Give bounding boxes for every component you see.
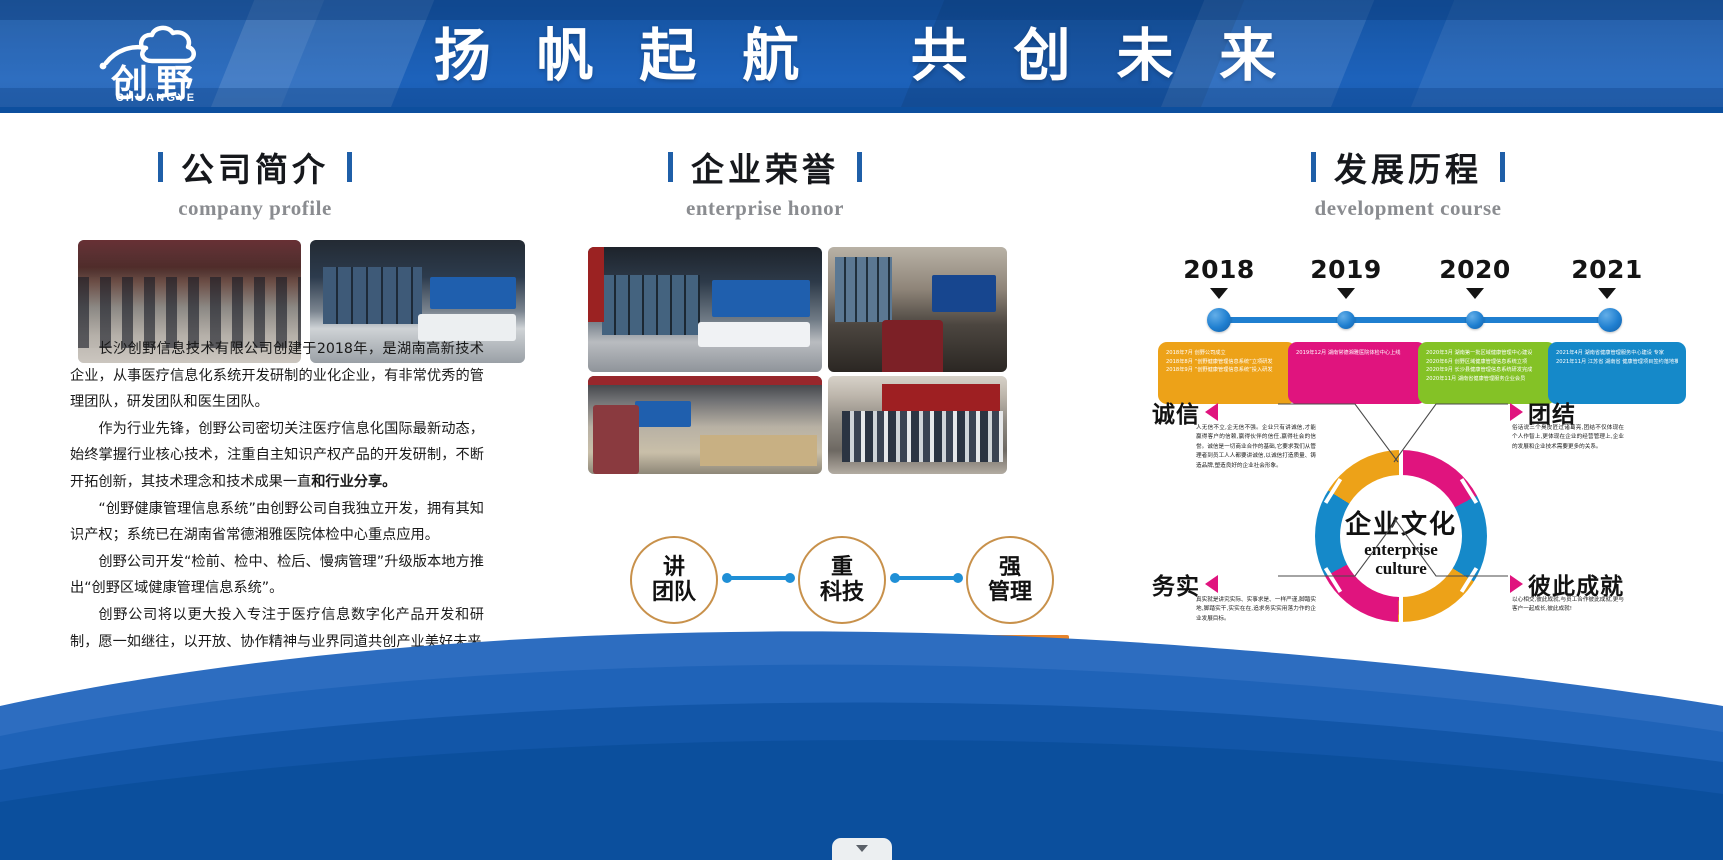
timeline-node-2021 bbox=[1598, 308, 1622, 332]
photo-meeting-room bbox=[588, 247, 822, 372]
timeline-card-2018-line-3: 2018年9月 “创野健康管理信息系统”投入研发 bbox=[1166, 366, 1288, 375]
arrow-right-icon bbox=[1510, 575, 1523, 593]
title-bar-left bbox=[668, 152, 673, 182]
section-title-profile-en: company profile bbox=[110, 196, 400, 221]
timeline-year-2019: 2019 bbox=[1286, 255, 1406, 284]
section-title-profile: 公司简介 company profile bbox=[110, 143, 400, 221]
title-bar-left bbox=[1311, 152, 1316, 182]
timeline-card-2020-line-2: 2020年6月 创野区域健康管理信息系统立项 bbox=[1426, 358, 1548, 367]
timeline-caret-2020 bbox=[1466, 288, 1484, 299]
timeline-card-2019: 2019年12月 湖南常德湘雅医院体检中心上线 bbox=[1288, 342, 1426, 404]
title-bar-left bbox=[158, 152, 163, 182]
culture-item-chengxin-text: 人无信不立,企无信不强。企业只有讲诚信,才能赢得客户的信赖,赢得伙伴的信任,赢得… bbox=[1196, 424, 1316, 471]
header-banner: 创野 CHUANGYE 扬 帆 起 航 共 创 未 来 bbox=[0, 0, 1723, 113]
profile-paragraph-4: 创野公司开发“检前、检中、检后、慢病管理”升级版本地方推出“创野区域健康管理信息… bbox=[70, 549, 484, 602]
timeline-axis bbox=[1225, 317, 1617, 323]
section-title-honor-en: enterprise honor bbox=[620, 196, 910, 221]
arrow-left-icon bbox=[1205, 575, 1218, 593]
section-title-text: 发展历程 bbox=[1334, 143, 1482, 191]
timeline-year-2021: 2021 bbox=[1547, 255, 1667, 284]
header-baseline bbox=[0, 107, 1723, 113]
photo-presentation bbox=[828, 247, 1007, 372]
poster-canvas: 创野 CHUANGYE 扬 帆 起 航 共 创 未 来 公司简介 company… bbox=[0, 0, 1723, 860]
section-title-course-en: development course bbox=[1263, 196, 1553, 221]
timeline-node-2018 bbox=[1207, 308, 1231, 332]
timeline-year-2020: 2020 bbox=[1415, 255, 1535, 284]
section-title-course-cn: 发展历程 bbox=[1263, 143, 1553, 191]
section-title-profile-cn: 公司简介 bbox=[110, 143, 400, 191]
timeline-year-2018: 2018 bbox=[1159, 255, 1279, 284]
card-nub bbox=[1476, 342, 1498, 345]
profile-paragraph-2-main: 作为行业先锋，创野公司密切关注医疗信息化国际最新动态，始终掌握行业核心技术，注重… bbox=[70, 421, 484, 490]
timeline-node-2019 bbox=[1337, 311, 1355, 329]
flow-connector-1 bbox=[726, 576, 791, 580]
timeline-card-2019-line-1: 2019年12月 湖南常德湘雅医院体检中心上线 bbox=[1296, 349, 1418, 358]
profile-paragraph-3: “创野健康管理信息系统”由创野公司自我独立开发，拥有其知识产权；系统已在湖南省常… bbox=[70, 496, 484, 549]
culture-center-label: 企业文化 enterprise culture bbox=[1315, 510, 1487, 578]
company-profile-text: 长沙创野信息技术有限公司创建于2018年，是湖南高新技术企业，从事医疗信息化系统… bbox=[70, 336, 484, 655]
footer-wave-decoration bbox=[0, 610, 1723, 860]
section-title-text: 公司简介 bbox=[181, 143, 329, 191]
connector-dot-start bbox=[890, 573, 900, 583]
culture-center-en-1: enterprise bbox=[1315, 540, 1487, 559]
timeline-card-2021-line-1: 2021年4月 湖南省健康管理服务中心建设 专家 bbox=[1556, 349, 1678, 358]
culture-item-wushi-title: 务实 bbox=[1152, 567, 1200, 601]
value-circle-2-text: 重科技 bbox=[820, 555, 864, 605]
value-circle-1-text: 讲团队 bbox=[652, 555, 696, 605]
profile-paragraph-2: 作为行业先锋，创野公司密切关注医疗信息化国际最新动态，始终掌握行业核心技术，注重… bbox=[70, 416, 484, 496]
timeline-caret-2018 bbox=[1210, 288, 1228, 299]
photo-group-photo bbox=[828, 376, 1007, 474]
page-title: 扬 帆 起 航 共 创 未 来 bbox=[0, 24, 1723, 88]
connector-dot-end bbox=[785, 573, 795, 583]
timeline-caret-2021 bbox=[1598, 288, 1616, 299]
header-stripe-top bbox=[0, 0, 1723, 20]
culture-item-tuanjie-text: 俗话说三个臭皮匠过诸葛亮,团结不仅体现在个人作智上,更体现在企业的经营管理上,企… bbox=[1512, 424, 1624, 452]
timeline-card-2020-line-4: 2020年11月 湖南省健康管理服务企业会员 bbox=[1426, 375, 1548, 384]
title-bar-right bbox=[347, 152, 352, 182]
photo-open-office bbox=[588, 376, 822, 474]
card-nub bbox=[1346, 342, 1368, 345]
profile-paragraph-1: 长沙创野信息技术有限公司创建于2018年，是湖南高新技术企业，从事医疗信息化系统… bbox=[70, 336, 484, 416]
timeline-card-2018-line-2: 2018年8月 “创野健康管理信息系统”立项研发 bbox=[1166, 358, 1288, 367]
connector-dot-end bbox=[953, 573, 963, 583]
donut-gap-1 bbox=[1399, 450, 1403, 478]
card-nub bbox=[1606, 342, 1628, 345]
section-title-honor: 企业荣誉 enterprise honor bbox=[620, 143, 910, 221]
connector-dot-start bbox=[722, 573, 732, 583]
section-title-text: 企业荣誉 bbox=[691, 143, 839, 191]
culture-center-cn: 企业文化 bbox=[1315, 510, 1487, 540]
wave-svg bbox=[0, 610, 1723, 860]
title-bar-right bbox=[1500, 152, 1505, 182]
value-circle-3-text: 强管理 bbox=[988, 555, 1032, 605]
timeline-card-2021-line-2: 2021年11月 江苏省 湖南省 健康管理项目签约落地推广 bbox=[1556, 358, 1678, 367]
profile-handwritten-note: 和行业分享。 bbox=[311, 474, 396, 490]
timeline-card-2020-line-3: 2020年9月 长沙县健康管理信息系统研发完成 bbox=[1426, 366, 1548, 375]
arrow-left-icon bbox=[1205, 403, 1218, 421]
card-nub bbox=[1216, 342, 1238, 345]
timeline-card-2018-line-1: 2018年7月 创野公司成立 bbox=[1166, 349, 1288, 358]
section-title-honor-cn: 企业荣誉 bbox=[620, 143, 910, 191]
chevron-down-icon bbox=[856, 845, 868, 852]
timeline-node-2020 bbox=[1466, 311, 1484, 329]
timeline-card-2020-line-1: 2020年3月 湖南第一批区域健康管理中心建设 bbox=[1426, 349, 1548, 358]
scroll-down-tab[interactable] bbox=[832, 838, 892, 860]
section-title-course: 发展历程 development course bbox=[1263, 143, 1553, 221]
arrow-right-icon bbox=[1510, 403, 1523, 421]
timeline-caret-2019 bbox=[1337, 288, 1355, 299]
title-bar-right bbox=[857, 152, 862, 182]
logo-subtitle: CHUANGYE bbox=[86, 92, 226, 104]
culture-center-en-2: culture bbox=[1315, 559, 1487, 578]
flow-connector-2 bbox=[894, 576, 959, 580]
culture-item-chengxin-title: 诚信 bbox=[1152, 395, 1200, 429]
